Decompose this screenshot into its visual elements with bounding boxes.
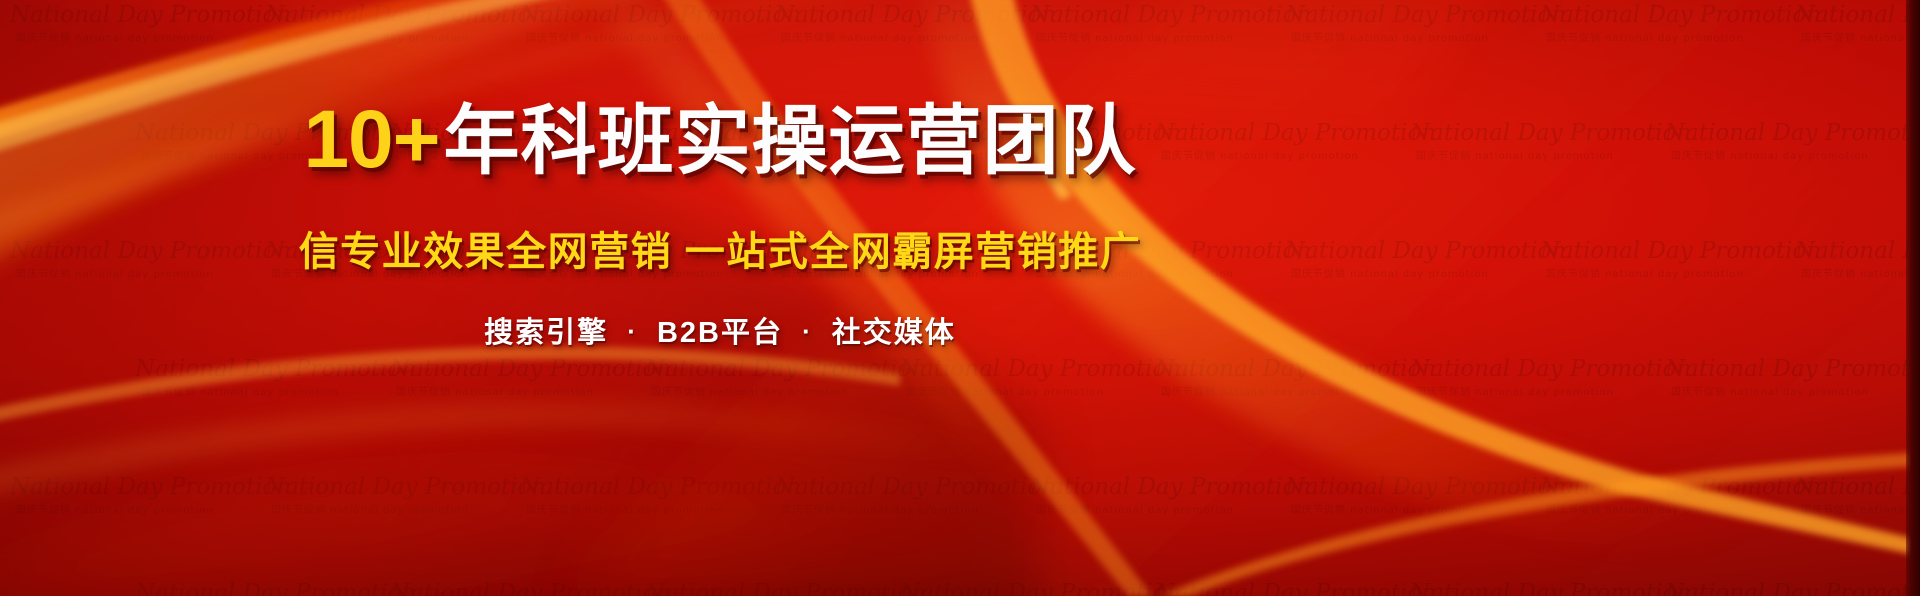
tagline-item-search-engine: 搜索引擎 bbox=[484, 317, 608, 349]
headline: 10+年科班实操运营团队 bbox=[303, 96, 1136, 185]
right-edge-strip bbox=[1906, 0, 1920, 596]
tagline-separator-dot: · bbox=[618, 316, 647, 346]
promo-banner: National Day Promotion 国庆节促销 national da… bbox=[0, 0, 1920, 596]
tagline-separator-dot: · bbox=[793, 316, 822, 346]
tagline-item-social-media: 社交媒体 bbox=[832, 317, 956, 349]
tagline: 搜索引擎 · B2B平台 · 社交媒体 bbox=[484, 309, 956, 351]
tagline-item-b2b-platform: B2B平台 bbox=[657, 317, 783, 349]
headline-text: 年科班实操运营团队 bbox=[444, 99, 1137, 184]
headline-number: 10+ bbox=[303, 94, 443, 185]
banner-content: 10+年科班实操运营团队 信专业效果全网营销 一站式全网霸屏营销推广 搜索引擎 … bbox=[0, 0, 1440, 596]
subheadline: 信专业效果全网营销 一站式全网霸屏营销推广 bbox=[299, 219, 1142, 277]
